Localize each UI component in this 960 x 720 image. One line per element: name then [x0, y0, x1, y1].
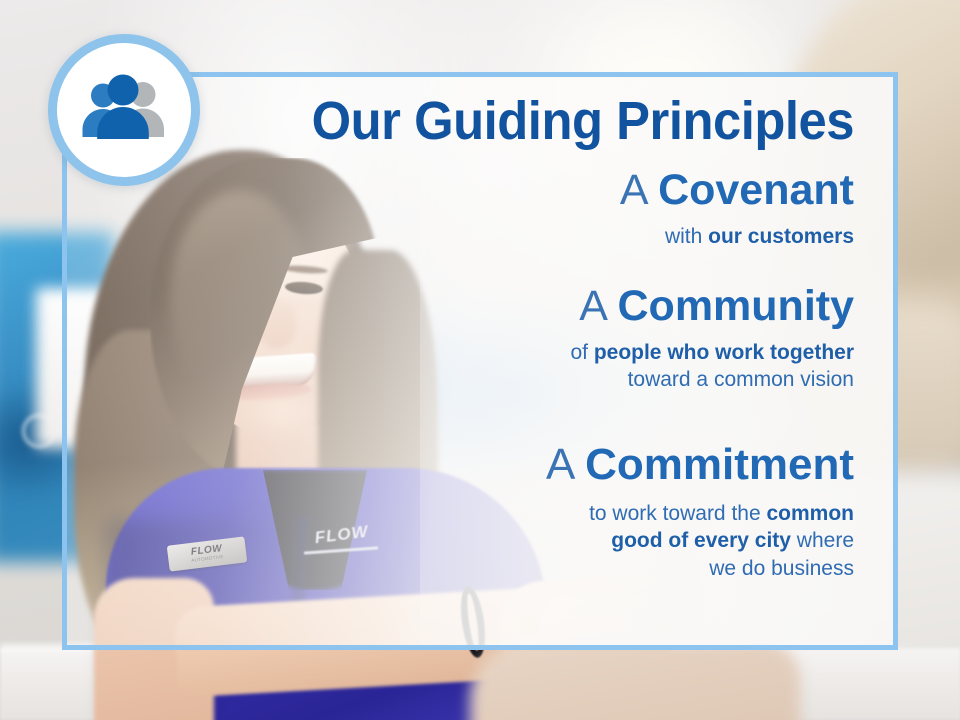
description-text: where [791, 529, 854, 552]
principle-commitment: A Commitment to work toward the common g… [546, 442, 854, 583]
principle-covenant: A Covenant with our customers [620, 168, 854, 250]
principle-keyword: Commitment [585, 440, 854, 489]
description-line: toward a common vision [570, 366, 854, 394]
principle-heading: A Covenant [620, 168, 854, 214]
description-line: with our customers [620, 223, 854, 251]
description-line: good of every city where [546, 527, 854, 555]
customer-hands [470, 640, 800, 720]
description-emphasis: good of every city [611, 529, 791, 552]
marketing-banner: FLOW AUTOMOTIVE FLOW [0, 0, 960, 720]
description-line: to work toward the common [546, 500, 854, 528]
description-text: of [570, 341, 593, 364]
description-emphasis: our customers [708, 225, 854, 248]
description-text: with [665, 225, 708, 248]
principle-description: to work toward the common good of every … [546, 500, 854, 583]
description-text: to work toward the [589, 502, 766, 525]
principle-article: A [579, 282, 605, 330]
description-line: of people who work together [570, 339, 854, 367]
page-title: Our Guiding Principles [312, 90, 854, 152]
principle-keyword: Community [618, 282, 855, 330]
description-text: we do business [709, 557, 854, 580]
principles-panel: Our Guiding Principles A Covenant with o… [62, 72, 898, 650]
description-line: we do business [546, 555, 854, 583]
principle-article: A [620, 166, 646, 214]
principle-community: A Community of people who work together … [570, 284, 854, 394]
principle-heading: A Commitment [546, 442, 854, 489]
description-emphasis: common [766, 502, 854, 525]
principle-heading: A Community [570, 284, 854, 330]
principle-keyword: Covenant [658, 166, 854, 214]
principle-article: A [546, 440, 573, 489]
principle-description: with our customers [620, 223, 854, 251]
description-emphasis: people who work together [594, 341, 854, 364]
description-text: toward a common vision [628, 368, 854, 391]
principle-description: of people who work together toward a com… [570, 339, 854, 394]
